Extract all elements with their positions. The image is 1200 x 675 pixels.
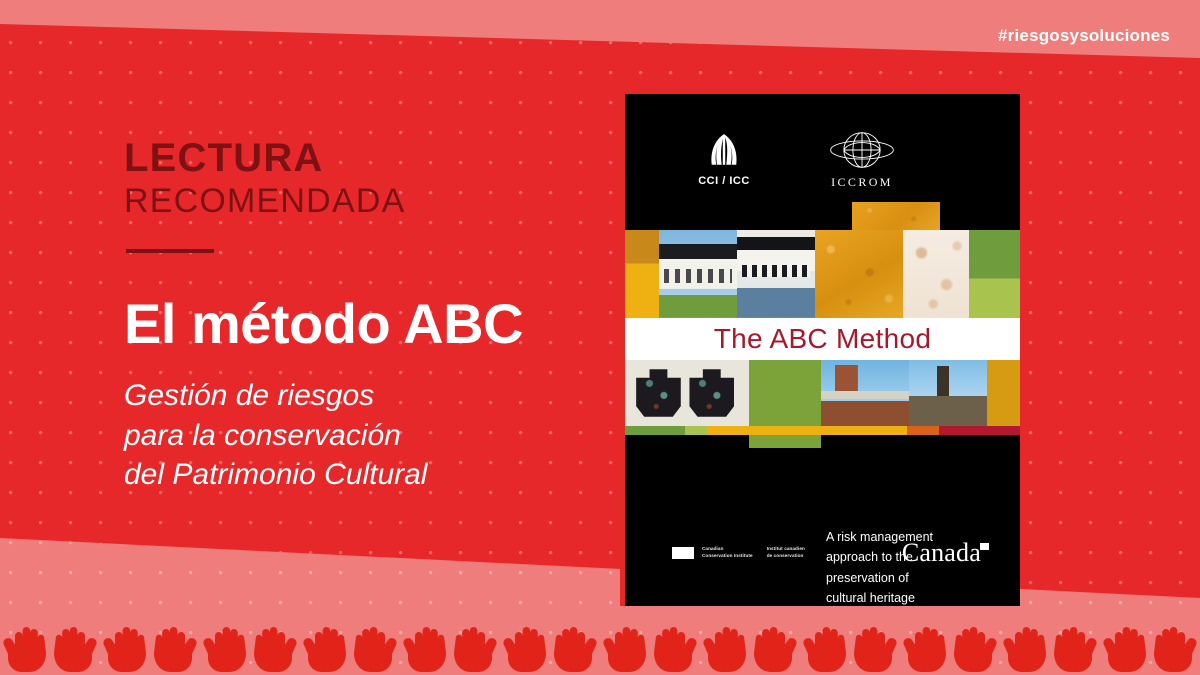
gov-text-en: CanadianConservation Institute: [702, 546, 753, 559]
hand-pair: [600, 621, 700, 675]
headline-block: LECTURA RECOMENDADA El método ABC Gestió…: [124, 138, 594, 495]
hand-icon: [452, 623, 498, 673]
iccrom-globe-icon: [816, 122, 908, 170]
hand-icon: [1002, 623, 1048, 673]
hand-pair: [300, 621, 400, 675]
cover-title-band: The ABC Method: [625, 318, 1020, 360]
cover-strip-bottom: [625, 360, 1020, 426]
specimen-blob: [636, 369, 681, 417]
swatch-ochre: [625, 230, 659, 318]
hand-icon: [302, 623, 348, 673]
poster-canvas: #riesgosysoluciones LECTURA RECOMENDADA …: [0, 0, 1200, 675]
hand-icon: [602, 623, 648, 673]
hand-icon: [502, 623, 548, 673]
hand-icon: [402, 623, 448, 673]
hand-pair: [200, 621, 300, 675]
kicker-line-2: RECOMENDADA: [124, 181, 594, 221]
book-title: The ABC Method: [714, 323, 931, 355]
government-signature: CanadianConservation Institute Institut …: [672, 546, 805, 559]
book-cover[interactable]: CCI / ICC: [620, 94, 1020, 606]
hand-icon: [352, 623, 398, 673]
hand-icon: [52, 623, 98, 673]
kicker-line-1: LECTURA: [124, 138, 594, 178]
cci-logo: CCI / ICC: [678, 122, 770, 202]
book-subtitle-line-3: preservation of: [826, 568, 996, 588]
cover-rule-bottom: [625, 426, 1020, 435]
hand-icon: [852, 623, 898, 673]
hand-pair: [0, 621, 100, 675]
page-title: El método ABC: [124, 296, 594, 352]
specimen-blob: [689, 369, 734, 417]
hand-pair: [500, 621, 600, 675]
hand-icon: [702, 623, 748, 673]
hand-icon: [1102, 623, 1148, 673]
hand-icon: [1052, 623, 1098, 673]
canada-wordmark: Canada: [902, 538, 990, 568]
hand-icon: [552, 623, 598, 673]
book-spine-bar: [620, 94, 625, 606]
hand-icon: [152, 623, 198, 673]
hand-icon: [752, 623, 798, 673]
book-subtitle-line-4: cultural heritage: [826, 588, 996, 608]
hand-icon: [2, 623, 48, 673]
subtitle-line-3: del Patrimonio Cultural: [124, 455, 594, 495]
texture-marble: [903, 230, 969, 318]
hand-icon: [252, 623, 298, 673]
cci-mark-icon: [678, 122, 770, 170]
iccrom-logo-label: ICCROM: [816, 175, 908, 190]
photo-museum-building: [821, 360, 909, 426]
hand-icon: [902, 623, 948, 673]
divider-rule: [126, 249, 214, 253]
hand-pair: [700, 621, 800, 675]
hand-pair: [1100, 621, 1200, 675]
gov-signature-text: CanadianConservation Institute Institut …: [702, 546, 805, 559]
hand-pair: [400, 621, 500, 675]
hand-icon: [802, 623, 848, 673]
cci-logo-label: CCI / ICC: [678, 175, 770, 187]
hand-icon: [1152, 623, 1198, 673]
texture-orange: [815, 230, 903, 318]
swatch-gold: [987, 360, 1020, 426]
hand-icon: [952, 623, 998, 673]
iccrom-logo: ICCROM: [816, 122, 908, 202]
hand-icon: [652, 623, 698, 673]
photo-flooded-house: [737, 230, 815, 318]
photo-disaster-ruin: [909, 360, 987, 426]
hand-pair: [900, 621, 1000, 675]
gov-text-fr: Institut canadiende conservation: [767, 546, 805, 559]
hand-pair: [1000, 621, 1100, 675]
hands-pattern-footer: [0, 615, 1200, 675]
photo-heritage-house: [659, 230, 737, 318]
subtitle-line-1: Gestión de riesgos: [124, 376, 594, 416]
swatch-orange-riser: [852, 202, 940, 230]
hand-icon: [102, 623, 148, 673]
subtitle-block: Gestión de riesgos para la conservación …: [124, 376, 594, 495]
publisher-logos: CCI / ICC: [620, 122, 1020, 202]
wordmark-flag-icon: [980, 543, 989, 550]
hand-pair: [800, 621, 900, 675]
swatch-greens: [969, 230, 1020, 318]
subtitle-line-2: para la conservación: [124, 416, 594, 456]
canada-flag-icon: [672, 547, 694, 559]
photo-mineral-specimens: [625, 360, 749, 426]
cover-strip-top: [625, 230, 1020, 318]
swatch-green: [749, 360, 821, 426]
hand-pair: [100, 621, 200, 675]
hand-icon: [202, 623, 248, 673]
hashtag-label: #riesgosysoluciones: [998, 26, 1170, 46]
